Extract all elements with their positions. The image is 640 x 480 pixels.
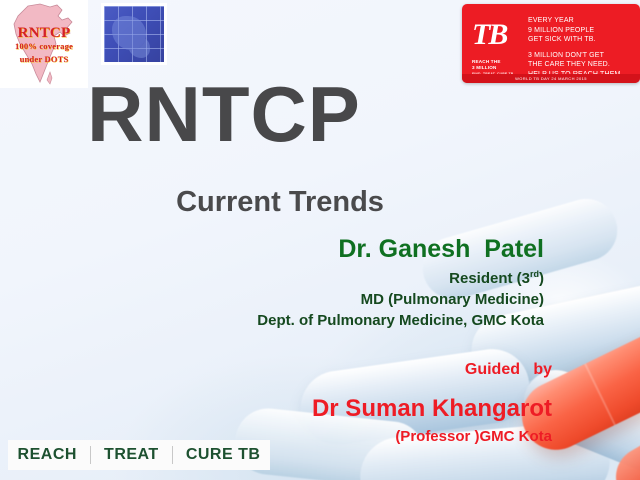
- presenter-role-close: ): [539, 270, 544, 287]
- page-subtitle: Current Trends: [0, 186, 560, 219]
- rntcp-logo-title: RNTCP: [2, 26, 86, 41]
- presenter-department: Dept. of Pulmonary Medicine, GMC Kota: [257, 310, 544, 331]
- tb-logo-icon: TB: [472, 18, 516, 56]
- presenter-name: Dr. Ganesh Patel: [257, 234, 544, 264]
- guide-designation: (Professor )GMC Kota: [395, 428, 552, 445]
- tb-poster-footer: WORLD TB DAY 24 MARCH 2015: [462, 74, 640, 83]
- presenter-role: Resident (3rd): [257, 264, 544, 289]
- guided-by-label: Guided by: [465, 361, 552, 379]
- presenter-degree: MD (Pulmonary Medicine): [257, 289, 544, 310]
- globe-grid-inner: [104, 6, 164, 62]
- strip-item-reach: REACH: [12, 446, 83, 464]
- tb-poster-stat-1: EVERY YEAR 9 MILLION PEOPLE GET SICK WIT…: [528, 16, 632, 45]
- tb-poster-body: EVERY YEAR 9 MILLION PEOPLE GET SICK WIT…: [528, 16, 632, 83]
- presenter-role-ordinal: rd: [530, 269, 539, 279]
- presenter-block: Dr. Ganesh Patel Resident (3rd) MD (Pulm…: [257, 234, 544, 331]
- reach-treat-cure-strip: REACH TREAT CURE TB: [8, 440, 270, 470]
- presenter-role-text: Resident (3: [449, 270, 530, 287]
- strip-item-treat: TREAT: [98, 446, 165, 464]
- guide-name: Dr Suman Khangarot: [312, 395, 552, 423]
- tb-awareness-poster: TB REACH THE 3 MILLION FIND. TREAT. CURE…: [462, 4, 640, 83]
- blue-globe-grid-icon: [101, 3, 167, 65]
- strip-divider: [172, 446, 173, 464]
- rntcp-logo-coverage: 100% coverage: [2, 42, 86, 51]
- presentation-slide: RNTCP 100% coverage under DOTS TB REACH …: [0, 0, 640, 480]
- page-title: RNTCP: [0, 72, 448, 156]
- rntcp-logo-dots: under DOTS: [2, 55, 86, 64]
- strip-divider: [90, 446, 91, 464]
- strip-item-cure-tb: CURE TB: [180, 446, 267, 464]
